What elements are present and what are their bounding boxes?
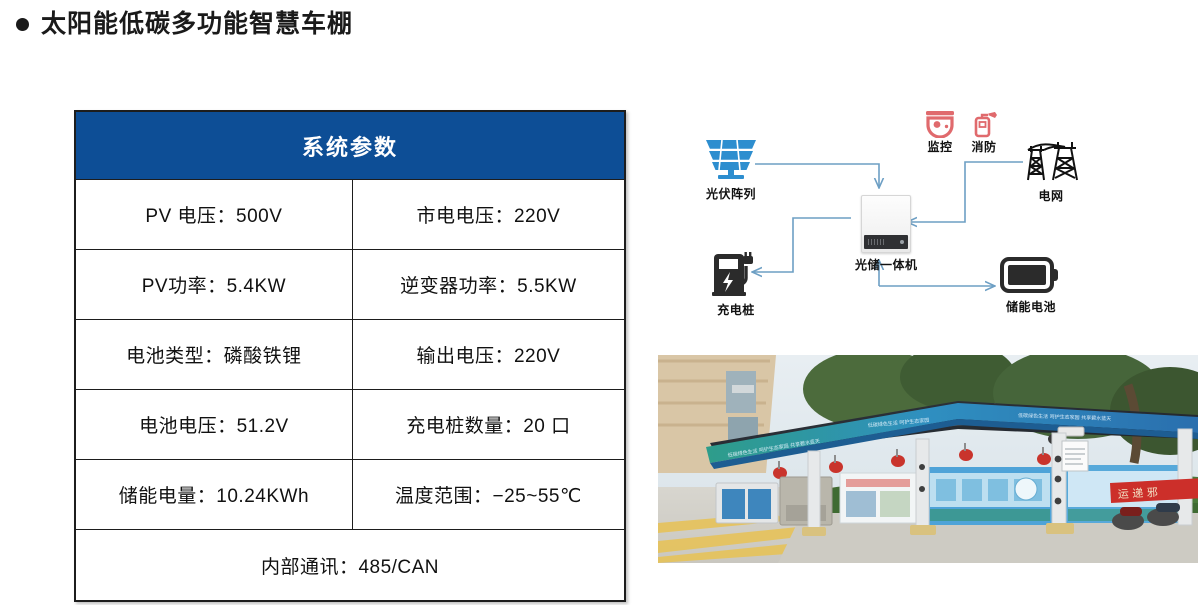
cell-inverter-power: 逆变器功率：5.5KW xyxy=(352,250,625,320)
cell-battery-type: 电池类型：磷酸铁锂 xyxy=(75,320,352,390)
diagram-node-fire: 消防 xyxy=(969,110,999,155)
diagram-node-monitor: 监控 xyxy=(925,110,955,155)
table-header-row: 系统参数 xyxy=(75,111,625,180)
diagram-node-charging-pile: 充电桩 xyxy=(710,250,762,318)
system-flow-diagram: 光伏阵列 监控 消防 xyxy=(655,100,1200,350)
cell-output-voltage: 输出电压：220V xyxy=(352,320,625,390)
diagram-label-battery: 储能电池 xyxy=(1006,298,1056,315)
diagram-node-battery: 储能电池 xyxy=(1000,255,1062,315)
page-title: 太阳能低碳多功能智慧车棚 xyxy=(41,12,353,37)
diagram-node-pv: 光伏阵列 xyxy=(700,138,762,202)
svg-text:运 递 邪: 运 递 邪 xyxy=(1117,485,1158,501)
cell-battery-voltage: 电池电压：51.2V xyxy=(75,390,352,460)
cell-pile-count: 充电桩数量：20 口 xyxy=(352,390,625,460)
battery-icon xyxy=(1000,255,1062,295)
diagram-label-charging-pile: 充电桩 xyxy=(717,301,755,318)
table-row: PV 电压：500V 市电电压：220V xyxy=(75,180,625,250)
table-title: 系统参数 xyxy=(75,111,625,180)
cell-storage-capacity: 储能电量：10.24KWh xyxy=(75,460,352,530)
cell-pv-power: PV功率：5.4KW xyxy=(75,250,352,320)
table-row: PV功率：5.4KW 逆变器功率：5.5KW xyxy=(75,250,625,320)
cell-pv-voltage: PV 电压：500V xyxy=(75,180,352,250)
cell-grid-voltage: 市电电压：220V xyxy=(352,180,625,250)
carport-photo-illustration: 低碳绿色生活 呵护生态家园 共享碧水蓝天 低碳绿色生活 呵护生态家园 低碳绿色生… xyxy=(658,355,1198,563)
diagram-label-monitor: 监控 xyxy=(927,138,952,155)
cell-internal-communication: 内部通讯：485/CAN xyxy=(75,530,625,602)
carport-photo: 低碳绿色生活 呵护生态家园 共享碧水蓝天 低碳绿色生活 呵护生态家园 低碳绿色生… xyxy=(658,355,1198,563)
diagram-label-grid: 电网 xyxy=(1038,187,1063,204)
charging-pile-icon xyxy=(710,250,762,298)
hybrid-inverter-icon xyxy=(861,195,911,253)
table-row: 电池类型：磷酸铁锂 输出电压：220V xyxy=(75,320,625,390)
fire-extinguisher-icon xyxy=(969,110,999,138)
cell-temperature-range: 温度范围：−25~55℃ xyxy=(352,460,625,530)
cctv-camera-icon xyxy=(925,110,955,138)
page-heading: 太阳能低碳多功能智慧车棚 xyxy=(16,12,353,37)
solar-panel-icon xyxy=(700,138,762,182)
diagram-label-fire: 消防 xyxy=(971,138,996,155)
system-parameters-table: 系统参数 PV 电压：500V 市电电压：220V PV功率：5.4KW 逆变器… xyxy=(74,110,626,602)
power-tower-icon xyxy=(1020,136,1082,184)
diagram-node-grid: 电网 xyxy=(1020,136,1082,204)
table-row: 电池电压：51.2V 充电桩数量：20 口 xyxy=(75,390,625,460)
table-row: 储能电量：10.24KWh 温度范围：−25~55℃ xyxy=(75,460,625,530)
diagram-label-inverter: 光储一体机 xyxy=(855,256,918,273)
inverter-indicator-dot xyxy=(900,240,904,244)
diagram-node-inverter: 光储一体机 xyxy=(855,195,918,273)
table-row: 内部通讯：485/CAN xyxy=(75,530,625,602)
bullet-dot-icon xyxy=(16,18,29,31)
diagram-node-safety: 监控 消防 xyxy=(925,110,999,155)
diagram-label-pv: 光伏阵列 xyxy=(706,185,756,202)
